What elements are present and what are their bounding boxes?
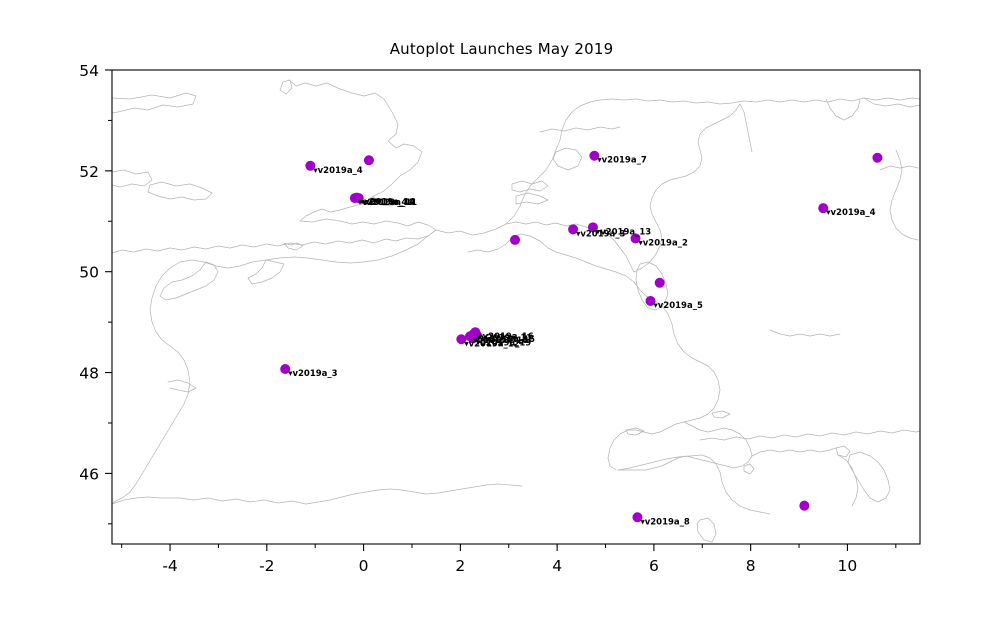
- x-tick-label: 4: [552, 557, 562, 575]
- data-point-marker[interactable]: [364, 155, 374, 165]
- scatter-map-plot: -4-202468104648505254 ▾v2019a_4▾v2019a_4…: [0, 0, 1003, 633]
- data-points-layer: ▾v2019a_4▾v2019a_44▾v2019a_11▾v2019a_14▾…: [280, 151, 882, 528]
- border-france-belgium: [468, 234, 654, 300]
- border-austria-italy: [752, 448, 836, 456]
- axes-spines: [112, 70, 920, 544]
- x-tick-label: -4: [162, 557, 177, 575]
- coastline-alps-lakes: [744, 464, 754, 474]
- coastline-irish-sea: [112, 170, 152, 187]
- map-geography-layer: [112, 80, 920, 542]
- coastline-france-west: [112, 230, 436, 504]
- coastline-italy-north: [700, 430, 920, 440]
- x-tick-label: 6: [649, 557, 659, 575]
- coastline-britain-north-tip: [280, 80, 292, 94]
- border-germany-czech: [880, 166, 918, 170]
- figure-canvas: Autoplot Launches May 2019: [0, 0, 1003, 633]
- data-point-label: ▾v2019a_4: [826, 208, 875, 218]
- data-point-label: ▾v2019a_2: [639, 238, 688, 248]
- y-tick-label: 48: [79, 365, 99, 383]
- x-tick-label: 0: [359, 557, 369, 575]
- y-tick-label: 50: [79, 264, 99, 282]
- coastline-denmark: [826, 99, 860, 120]
- coastline-mediterranean: [618, 455, 770, 514]
- border-switzerland-italy: [618, 422, 752, 470]
- coastline-gironde: [168, 380, 196, 392]
- coastline-great-britain: [112, 93, 196, 113]
- border-alps-east: [838, 455, 858, 506]
- border-alps-inner: [770, 330, 840, 336]
- data-point-marker[interactable]: [799, 501, 809, 511]
- coastline-pyrenees-med: [180, 484, 522, 504]
- data-point-label: ▾v2019a_4: [313, 166, 362, 176]
- coastline-adriatic: [848, 452, 890, 502]
- data-point-label: ▾v2019a_19: [476, 338, 531, 348]
- y-tick-label: 46: [79, 465, 99, 483]
- coastline-isle-detail: [284, 243, 303, 250]
- border-france-germany: [654, 300, 720, 422]
- data-point-label: ▾v2019a_3: [288, 369, 337, 379]
- coastline-lake-constance: [712, 411, 730, 418]
- y-tick-label: 52: [79, 163, 99, 181]
- x-tick-label: 10: [838, 557, 858, 575]
- x-tick-label: 8: [746, 557, 756, 575]
- x-tick-label: 2: [455, 557, 465, 575]
- data-point-label: ▾v2019a_5: [654, 301, 703, 311]
- coastline-zeeland-delta-2: [516, 193, 548, 204]
- coastline-corsica: [697, 518, 716, 542]
- border-germany-austria: [740, 104, 752, 152]
- data-point-label: ▾v2019a_13: [596, 227, 651, 237]
- data-point-marker[interactable]: [655, 278, 665, 288]
- data-point-marker[interactable]: [510, 235, 520, 245]
- y-tick-label: 54: [79, 62, 99, 80]
- coastline-brittany: [160, 262, 218, 300]
- coastline-wadden-islands: [540, 127, 620, 132]
- data-point-label: ▾v2019a_8: [640, 517, 689, 527]
- coastline-ijsselmeer: [553, 148, 582, 170]
- data-point-label: ▾v2019a_14: [360, 198, 415, 208]
- axis-ticks: -4-202468104648505254: [79, 62, 896, 575]
- data-point-marker[interactable]: [872, 153, 882, 163]
- border-misc-east: [890, 150, 918, 240]
- coastline-normandy: [248, 260, 284, 284]
- data-point-label: ▾v2019a_7: [597, 156, 646, 166]
- border-france-switzerland: [608, 422, 684, 470]
- coastline-wales: [148, 182, 212, 200]
- coastline-britain-south: [112, 219, 436, 253]
- x-tick-label: -2: [259, 557, 274, 575]
